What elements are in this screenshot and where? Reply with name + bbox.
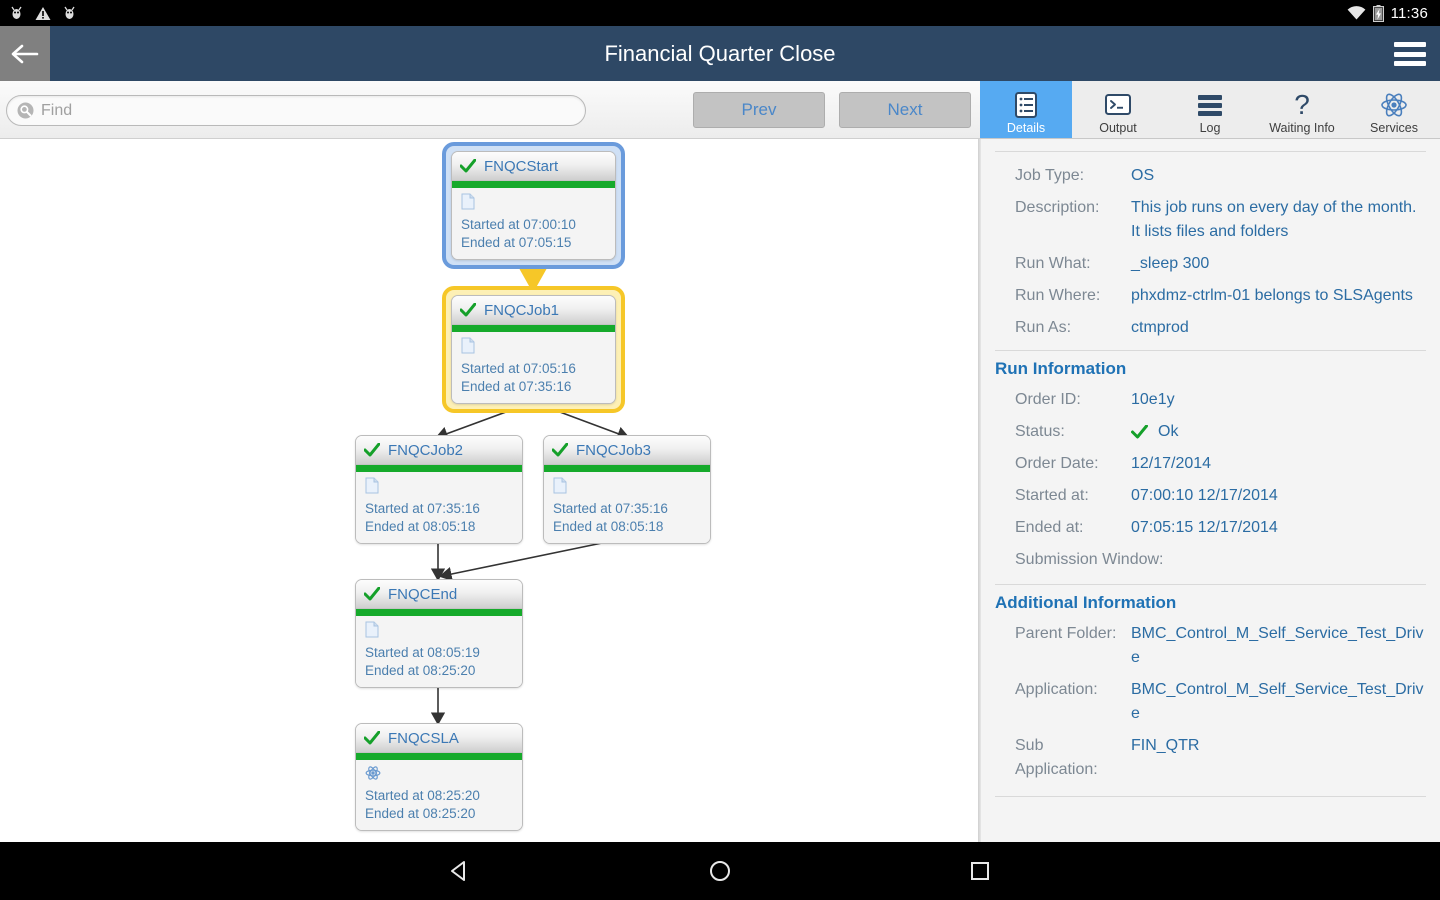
status-text: Ok (1158, 420, 1178, 444)
detail-label: Run As: (995, 316, 1129, 340)
node-ended: Ended at 07:35:16 (461, 378, 606, 396)
detail-value: ctmprod (1129, 316, 1426, 340)
search-placeholder: Find (41, 102, 72, 120)
tab-label: Details (1007, 121, 1045, 135)
android-home-icon (707, 858, 733, 884)
tab-label: Waiting Info (1269, 121, 1335, 135)
node-progress-bar (356, 753, 522, 760)
node-header: FNQCJob1 (452, 296, 615, 325)
tab-log[interactable]: Log (1164, 81, 1256, 138)
green-check-icon (364, 587, 380, 601)
hamburger-bar (1394, 42, 1426, 47)
android-recents-button[interactable] (950, 851, 1010, 891)
detail-label: Sub Application: (995, 734, 1129, 782)
detail-value: FIN_QTR (1129, 734, 1426, 782)
detail-value: 10e1y (1129, 388, 1426, 412)
node-box: FNQCJob2 Started at 07:35:16 Ended at 08… (355, 435, 523, 544)
detail-row-started-at: Started at: 07:00:10 12/17/2014 (981, 480, 1440, 512)
prev-button[interactable]: Prev (693, 92, 825, 128)
node-ended: Ended at 08:25:20 (365, 662, 513, 680)
hamburger-bar (1394, 61, 1426, 66)
hamburger-bar (1394, 52, 1426, 57)
green-check-icon (1131, 425, 1148, 439)
warning-icon (35, 6, 51, 21)
document-icon (365, 477, 513, 499)
node-title: FNQCJob1 (484, 302, 559, 319)
details-list-icon (1013, 90, 1039, 120)
node-body: Started at 08:25:20 Ended at 08:25:20 (356, 760, 522, 830)
node-header: FNQCSLA (356, 724, 522, 753)
node-box: FNQCJob3 Started at 07:35:16 Ended at 08… (543, 435, 711, 544)
node-header: FNQCJob3 (544, 436, 710, 465)
detail-value: _sleep 300 (1129, 252, 1426, 276)
section-title-run-information: Run Information (981, 351, 1440, 384)
status-bar-clock: 11:36 (1391, 5, 1428, 22)
node-box: FNQCEnd Started at 08:05:19 Ended at 08:… (355, 579, 523, 688)
node-progress-bar (356, 609, 522, 616)
node-progress-bar (356, 465, 522, 472)
detail-value: OS (1129, 164, 1426, 188)
node-progress-bar (452, 181, 615, 188)
node-body: Started at 07:35:16 Ended at 08:05:18 (356, 472, 522, 543)
flow-node-fnqcstart[interactable]: FNQCStart Started at 07:00:10 Ended at 0… (442, 142, 625, 269)
node-started: Started at 08:25:20 (365, 787, 513, 805)
detail-row-ended-at: Ended at: 07:05:15 12/17/2014 (981, 512, 1440, 544)
section-title-additional-information: Additional Information (981, 585, 1440, 618)
detail-row-run-what: Run What: _sleep 300 (981, 248, 1440, 280)
detail-row-job-type: Job Type: OS (981, 160, 1440, 192)
node-box: FNQCJob1 Started at 07:05:16 Ended at 07… (451, 295, 616, 404)
node-started: Started at 07:00:10 (461, 216, 606, 234)
node-title: FNQCSLA (388, 730, 459, 747)
detail-label: Run What: (995, 252, 1129, 276)
detail-value: BMC_Control_M_Self_Service_Test_Drive (1129, 622, 1426, 670)
detail-row-application: Application: BMC_Control_M_Self_Service_… (981, 674, 1440, 730)
svg-text:?: ? (1294, 90, 1310, 120)
green-check-icon (552, 443, 568, 457)
detail-value: BMC_Control_M_Self_Service_Test_Drive (1129, 678, 1426, 726)
node-header: FNQCStart (452, 152, 615, 181)
node-header: FNQCEnd (356, 580, 522, 609)
status-badge: Ok (1129, 420, 1426, 444)
node-title: FNQCEnd (388, 586, 457, 603)
details-panel[interactable]: Job Type: OS Description: This job runs … (981, 139, 1440, 842)
tab-label: Output (1099, 121, 1137, 135)
android-back-button[interactable] (430, 851, 490, 891)
detail-row-submission-window: Submission Window: (981, 544, 1440, 576)
detail-label: Ended at: (995, 516, 1129, 540)
green-check-icon (364, 731, 380, 745)
detail-row-status: Status: Ok (981, 416, 1440, 448)
detail-value: 07:05:15 12/17/2014 (1129, 516, 1426, 540)
divider-line (995, 796, 1426, 797)
bug-icon (10, 5, 23, 21)
tab-waiting-info[interactable]: ? Waiting Info (1256, 81, 1348, 138)
terminal-icon (1103, 90, 1133, 120)
next-button[interactable]: Next (839, 92, 971, 128)
green-check-icon (460, 303, 476, 317)
detail-row-parent-folder: Parent Folder: BMC_Control_M_Self_Servic… (981, 618, 1440, 674)
status-bar-left-icons (10, 0, 76, 26)
android-nav-bar (0, 842, 1440, 900)
flow-node-fnqcjob1[interactable]: FNQCJob1 Started at 07:05:16 Ended at 07… (442, 286, 625, 413)
green-check-icon (364, 443, 380, 457)
node-box: FNQCStart Started at 07:00:10 Ended at 0… (451, 151, 616, 260)
document-icon (553, 477, 701, 499)
node-started: Started at 07:35:16 (553, 500, 701, 518)
detail-row-sub-application: Sub Application: FIN_QTR (981, 730, 1440, 786)
android-home-button[interactable] (690, 851, 750, 891)
node-box: FNQCSLA Started at (355, 723, 523, 831)
document-icon (365, 621, 513, 643)
detail-row-run-as: Run As: ctmprod (981, 312, 1440, 344)
document-icon (461, 193, 606, 215)
node-started: Started at 07:35:16 (365, 500, 513, 518)
flow-node-fnqcsla[interactable]: FNQCSLA Started at (355, 723, 523, 831)
android-back-icon (447, 858, 473, 884)
document-icon (461, 337, 606, 359)
back-button[interactable] (0, 26, 50, 81)
android-status-bar: 11:36 (0, 0, 1440, 26)
app-root: 11:36 Financial Quarter Close Find Prev … (0, 0, 1440, 900)
detail-value: phxdmz-ctrlm-01 belongs to SLSAgents (1129, 284, 1426, 308)
detail-value (1164, 548, 1427, 572)
log-bars-icon (1196, 90, 1224, 120)
node-header: FNQCJob2 (356, 436, 522, 465)
detail-row-run-where: Run Where: phxdmz-ctrlm-01 belongs to SL… (981, 280, 1440, 312)
page-title: Financial Quarter Close (0, 26, 1440, 81)
tab-services[interactable]: Services (1348, 81, 1440, 138)
detail-label: Job Type: (995, 164, 1129, 188)
atom-services-icon (1380, 90, 1408, 120)
detail-label: Status: (995, 420, 1129, 444)
search-icon (17, 102, 34, 119)
app-title-bar: Financial Quarter Close (0, 26, 1440, 81)
detail-value: 07:00:10 12/17/2014 (1129, 484, 1426, 508)
node-body: Started at 08:05:19 Ended at 08:25:20 (356, 616, 522, 687)
detail-label: Started at: (995, 484, 1129, 508)
hamburger-menu-button[interactable] (1392, 38, 1428, 70)
node-ended: Ended at 08:05:18 (365, 518, 513, 536)
detail-label: Description: (995, 196, 1129, 244)
detail-row-description: Description: This job runs on every day … (981, 192, 1440, 248)
battery-charging-icon (1373, 5, 1384, 22)
detail-value: 12/17/2014 (1129, 452, 1426, 476)
node-body: Started at 07:35:16 Ended at 08:05:18 (544, 472, 710, 543)
node-title: FNQCJob3 (576, 442, 651, 459)
flow-diagram-canvas[interactable]: FNQCStart Started at 07:00:10 Ended at 0… (0, 139, 978, 842)
tab-label: Log (1200, 121, 1221, 135)
atom-services-icon (365, 765, 513, 786)
node-started: Started at 07:05:16 (461, 360, 606, 378)
tab-label: Services (1370, 121, 1418, 135)
wifi-icon (1347, 6, 1366, 21)
detail-label: Order Date: (995, 452, 1129, 476)
green-check-icon (460, 159, 476, 173)
tab-output[interactable]: Output (1072, 81, 1164, 138)
node-title: FNQCJob2 (388, 442, 463, 459)
detail-value: This job runs on every day of the month.… (1129, 196, 1426, 244)
detail-label: Order ID: (995, 388, 1129, 412)
details-tab-strip: Details Output Log (980, 81, 1440, 139)
node-progress-bar (544, 465, 710, 472)
detail-label: Parent Folder: (995, 622, 1129, 670)
node-body: Started at 07:05:16 Ended at 07:35:16 (452, 332, 615, 403)
flow-node-fnqcjob2[interactable]: FNQCJob2 Started at 07:35:16 Ended at 08… (355, 435, 523, 544)
node-ended: Ended at 07:05:15 (461, 234, 606, 252)
detail-row-order-id: Order ID: 10e1y (981, 384, 1440, 416)
node-title: FNQCStart (484, 158, 558, 175)
android-recents-icon (967, 858, 993, 884)
detail-label: Run Where: (995, 284, 1129, 308)
node-progress-bar (452, 325, 615, 332)
back-arrow-icon (10, 43, 40, 65)
tab-details[interactable]: Details (980, 81, 1072, 138)
flow-node-fnqcend[interactable]: FNQCEnd Started at 08:05:19 Ended at 08:… (355, 579, 523, 688)
node-ended: Ended at 08:05:18 (553, 518, 701, 536)
detail-label: Submission Window: (995, 548, 1164, 572)
search-input[interactable]: Find (6, 95, 586, 126)
bug-icon (63, 5, 76, 21)
detail-row-order-date: Order Date: 12/17/2014 (981, 448, 1440, 480)
node-ended: Ended at 08:25:20 (365, 805, 513, 823)
flow-node-fnqcjob3[interactable]: FNQCJob3 Started at 07:35:16 Ended at 08… (543, 435, 711, 544)
status-bar-right-icons: 11:36 (1347, 0, 1428, 26)
detail-label: Application: (995, 678, 1129, 726)
question-mark-icon: ? (1290, 90, 1314, 120)
node-body: Started at 07:00:10 Ended at 07:05:15 (452, 188, 615, 259)
node-started: Started at 08:05:19 (365, 644, 513, 662)
